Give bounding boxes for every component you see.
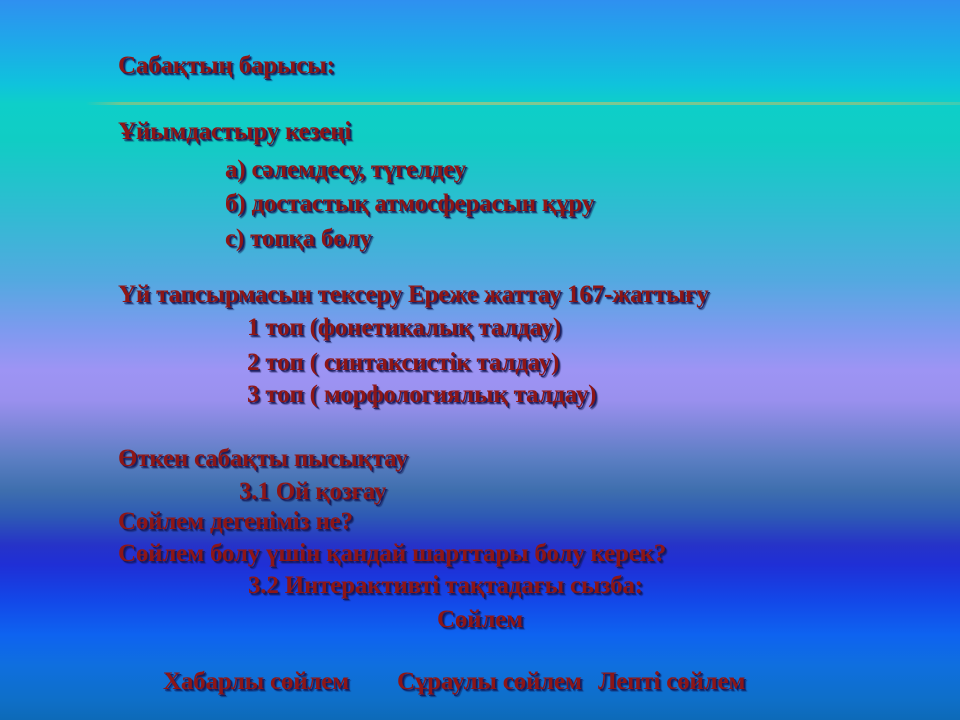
diagram-root-label: Сөйлем: [0, 606, 960, 634]
list-item: 2 топ ( синтаксистік талдау): [247, 349, 559, 377]
list-item: а) сәлемдесу, түгелдеу: [225, 156, 466, 184]
list-item: б) достастық атмосферасын құру: [225, 190, 594, 218]
list-item: Сөйлем болу үшін қандай шарттары болу ке…: [118, 540, 666, 568]
list-item: с) топқа бөлу: [225, 225, 372, 253]
list-item: 1 топ (фонетикалық талдау): [247, 314, 561, 342]
page-title: Сабақтың барысы:: [118, 52, 335, 80]
list-item: 3.1 Ой қозғау: [239, 478, 386, 506]
section-heading-organization: Ұйымдастыру кезеңі: [118, 118, 351, 146]
diagram-branch-label: Лепті сөйлем: [598, 668, 745, 696]
section-heading-review: Өткен сабақты пысықтау: [118, 445, 407, 473]
list-item: 3.2 Интерактивті тақтадағы сызба:: [248, 572, 643, 600]
diagram-branch-label: Сұраулы сөйлем: [397, 668, 582, 696]
diagram-branch-label: Хабарлы сөйлем: [163, 668, 349, 696]
list-item: 3 топ ( морфологиялық талдау): [247, 381, 596, 409]
presentation-slide: Сабақтың барысы: Ұйымдастыру кезеңі а) с…: [0, 0, 960, 720]
title-divider: [86, 102, 960, 105]
section-heading-homework: Үй тапсырмасын тексеру Ереже жаттау 167-…: [118, 281, 709, 309]
list-item: Сөйлем дегеніміз не?: [118, 508, 353, 536]
